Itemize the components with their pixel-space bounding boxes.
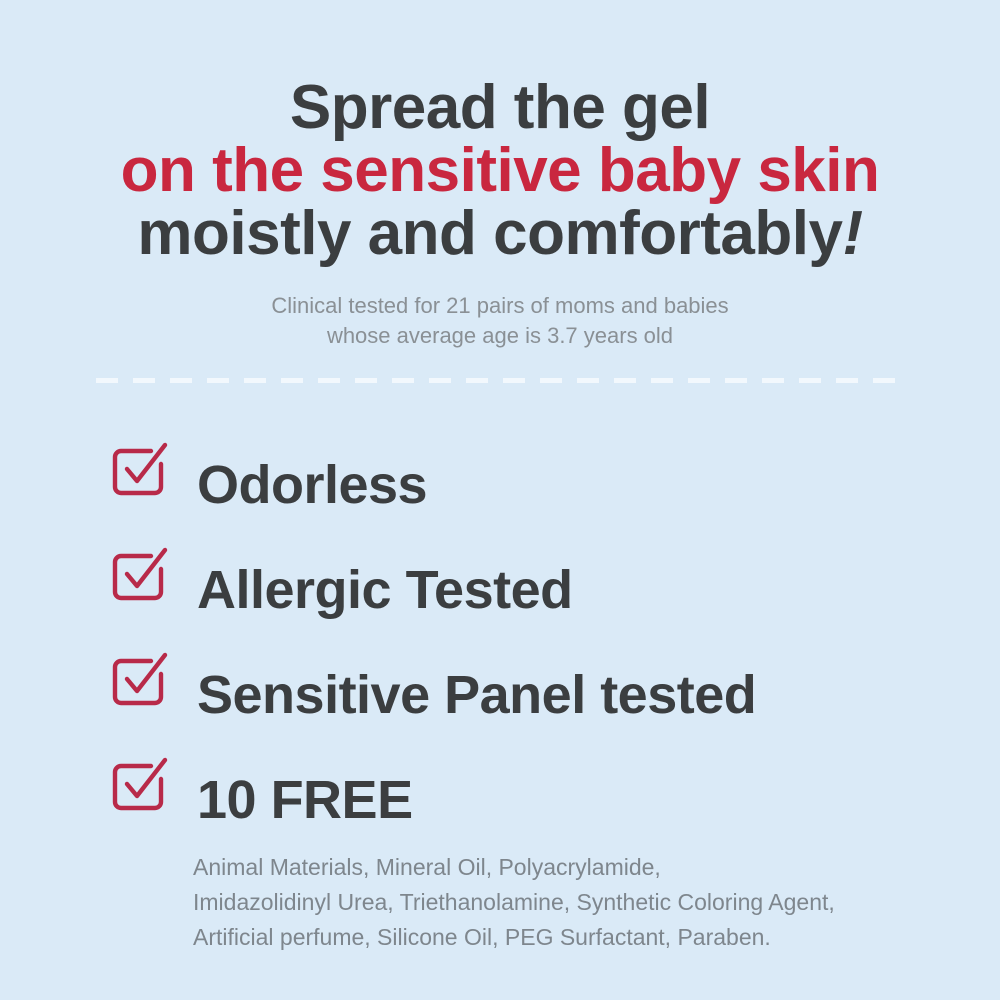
feature-label: Odorless [197, 458, 427, 512]
headline-line-3: moistly and comfortably! [0, 204, 1000, 265]
checkbox-checked-icon [110, 755, 172, 817]
subtitle-block: Clinical tested for 21 pairs of moms and… [0, 291, 1000, 352]
ingredients-line-2: Imidazolidinyl Urea, Triethanolamine, Sy… [193, 885, 893, 920]
checkbox-checked-icon [110, 545, 172, 607]
feature-label: Sensitive Panel tested [197, 668, 756, 722]
headline-line-1: Spread the gel [0, 78, 1000, 139]
headline-block: Spread the gel on the sensitive baby ski… [0, 78, 1000, 264]
checkbox-checked-icon [110, 440, 172, 502]
feature-label: 10 FREE [197, 773, 413, 827]
feature-label: Allergic Tested [197, 563, 573, 617]
ingredients-line-3: Artificial perfume, Silicone Oil, PEG Su… [193, 920, 893, 955]
headline-exclamation: ! [842, 199, 862, 268]
feature-item-sensitive-panel-tested: Sensitive Panel tested [0, 642, 1000, 747]
subtitle-line-2: whose average age is 3.7 years old [0, 321, 1000, 351]
ingredients-line-1: Animal Materials, Mineral Oil, Polyacryl… [193, 850, 893, 885]
feature-list: Odorless Allergic Tested Sensitive Panel… [0, 432, 1000, 852]
ingredients-list: Animal Materials, Mineral Oil, Polyacryl… [193, 850, 893, 955]
headline-line-3-text: moistly and comfortably [137, 199, 842, 268]
subtitle-line-1: Clinical tested for 21 pairs of moms and… [0, 291, 1000, 321]
feature-item-odorless: Odorless [0, 432, 1000, 537]
dashed-divider [96, 378, 906, 383]
headline-line-2: on the sensitive baby skin [0, 141, 1000, 202]
feature-item-10-free: 10 FREE [0, 747, 1000, 852]
feature-item-allergic-tested: Allergic Tested [0, 537, 1000, 642]
checkbox-checked-icon [110, 650, 172, 712]
